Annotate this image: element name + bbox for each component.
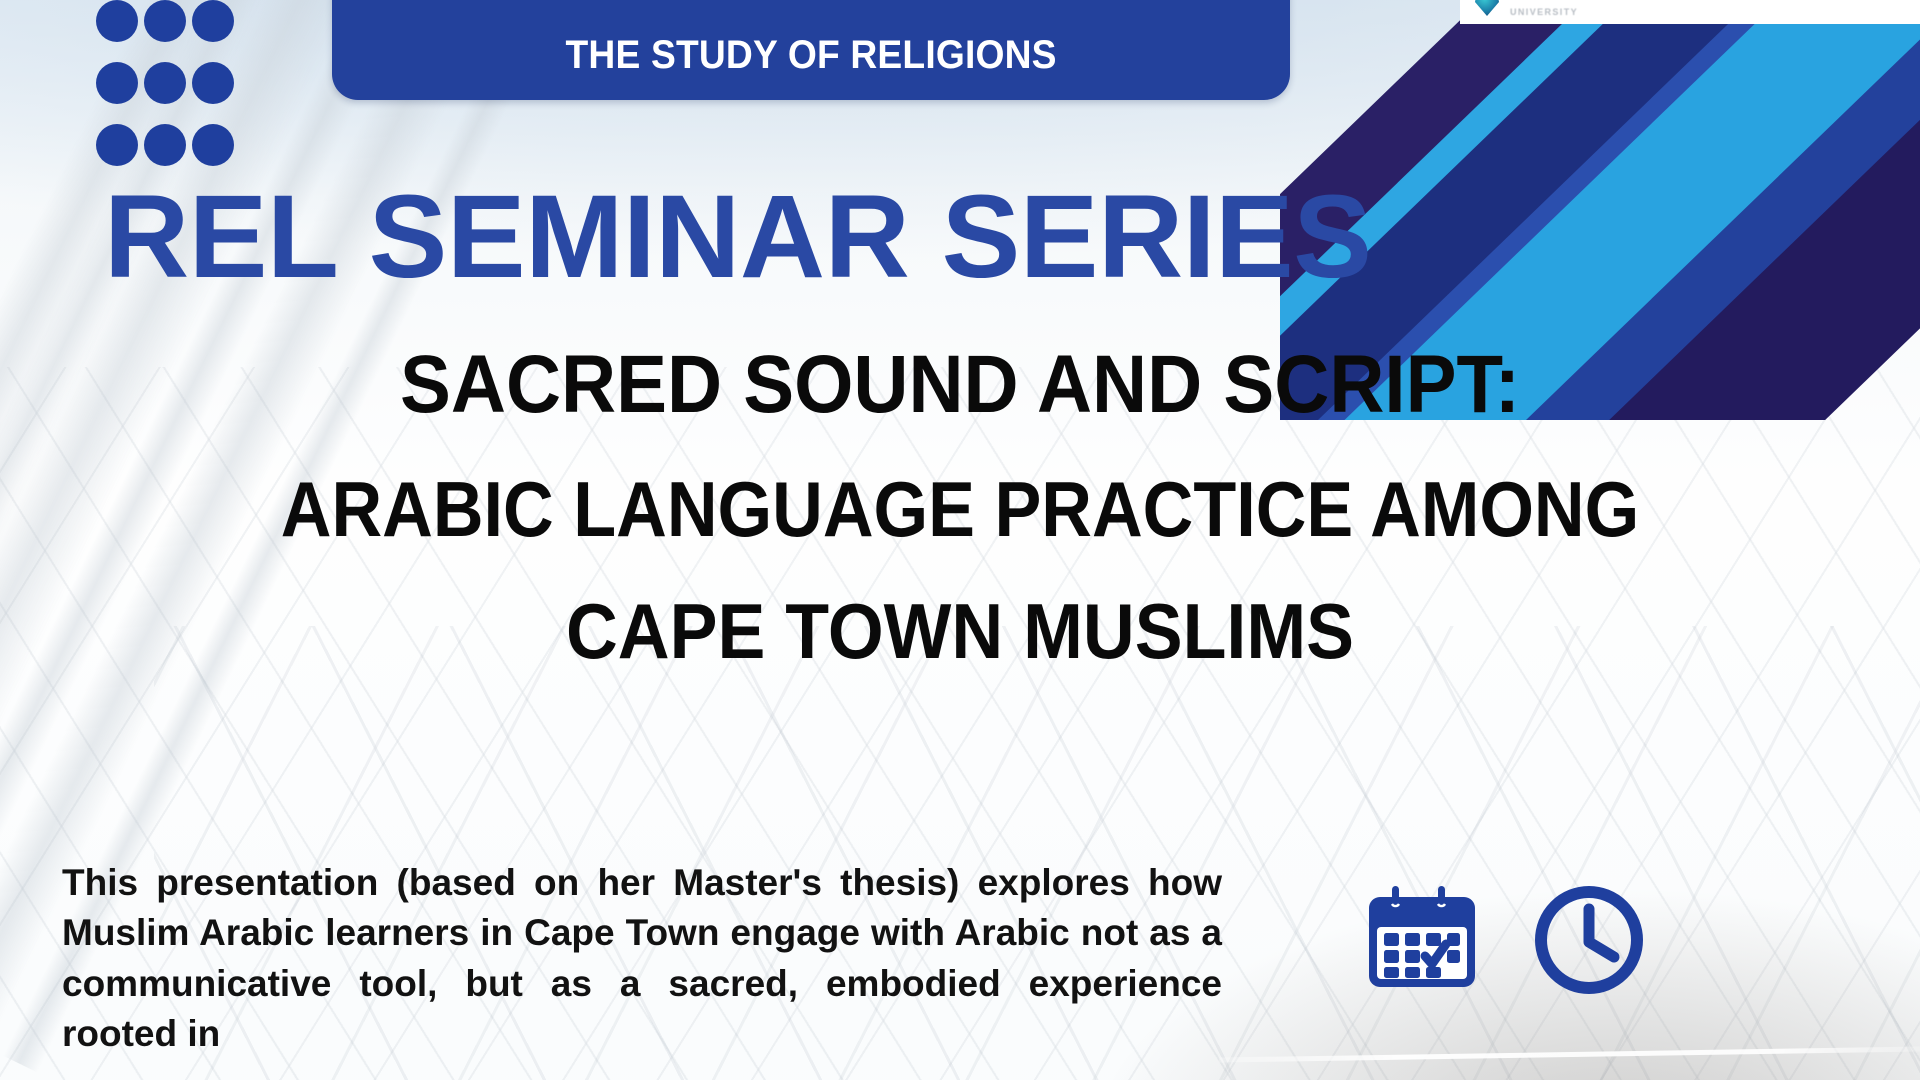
university-logo-strip: UNIVERSITY xyxy=(1460,0,1920,24)
dot-grid-decoration xyxy=(96,0,240,186)
department-banner: THE STUDY OF RELIGIONS xyxy=(332,0,1290,100)
department-banner-label: THE STUDY OF RELIGIONS xyxy=(565,33,1056,78)
university-logo-wordmark: UNIVERSITY xyxy=(1510,7,1578,17)
page-title: REL SEMINAR SERIES xyxy=(104,178,1371,296)
event-meta-icons xyxy=(1362,880,1648,1000)
shield-logo-icon xyxy=(1472,0,1502,24)
talk-title-line-1: SACRED SOUND AND SCRIPT: xyxy=(67,344,1853,426)
abstract-text: This presentation (based on her Master's… xyxy=(62,858,1222,1059)
calendar-icon xyxy=(1362,880,1482,1000)
seminar-poster: UNIVERSITY THE STUDY OF RELIGIONS REL SE… xyxy=(0,0,1920,1080)
abstract-paragraph: This presentation (based on her Master's… xyxy=(62,858,1222,1059)
clock-icon xyxy=(1530,881,1648,999)
talk-title-line-2: ARABIC LANGUAGE PRACTICE AMONG xyxy=(96,470,1824,548)
talk-title-line-3: CAPE TOWN MUSLIMS xyxy=(77,592,1843,670)
